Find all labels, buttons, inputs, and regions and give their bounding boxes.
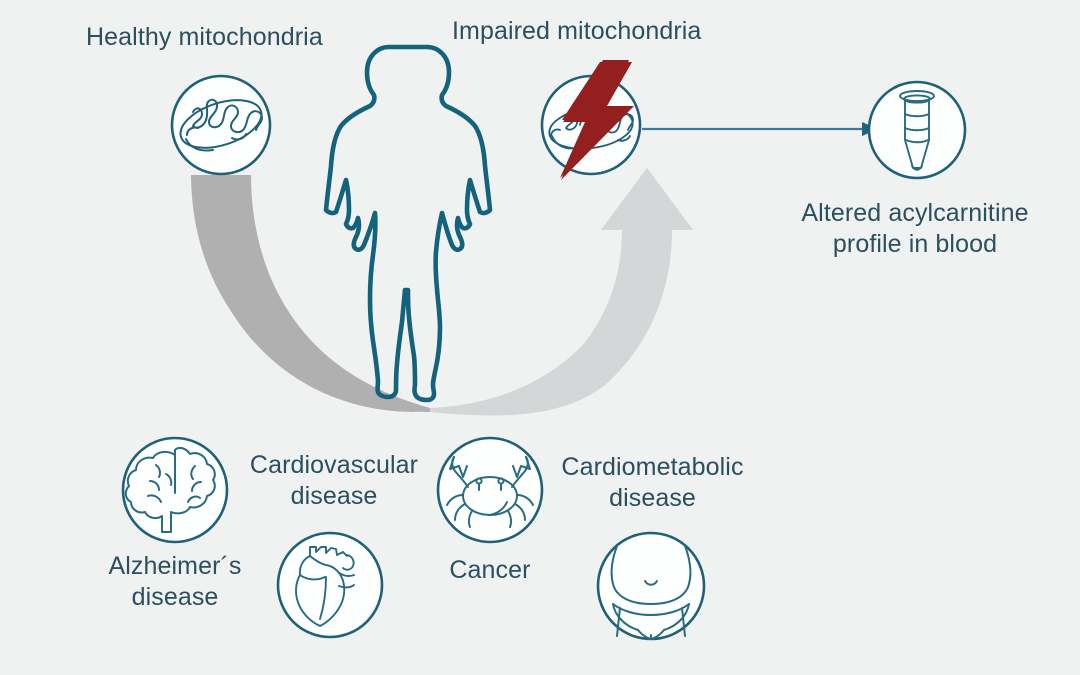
impaired-mitochondria-node[interactable] [542,60,640,180]
healthy-mitochondria-label: Healthy mitochondria [86,22,366,53]
alzheimer-node[interactable] [123,438,227,542]
blood-tube-label: Altered acylcarnitine profile in blood [770,198,1060,260]
human-body-outline-icon [326,47,490,400]
cardiometabolic-node[interactable] [598,533,704,639]
curved-arrows-group [191,168,693,415]
impaired-to-blood-arrow-icon [642,122,878,136]
impaired-mitochondria-label: Impaired mitochondria [452,16,752,47]
alzheimer-label: Alzheimer´s disease [80,551,270,613]
diagram-canvas: Healthy mitochondria Impaired mitochondr… [0,0,1080,675]
cardiovascular-label: Cardiovascular disease [235,450,433,512]
cancer-node[interactable] [438,438,542,542]
cancer-label: Cancer [420,555,560,586]
blood-tube-node[interactable] [869,82,965,178]
cardiometabolic-label: Cardiometabolic disease [540,452,765,514]
cardiovascular-node[interactable] [278,533,382,637]
cancer-circle[interactable] [438,438,542,542]
diseases-up-arrow-body-icon [430,168,693,414]
healthy-mitochondria-node[interactable] [172,76,270,174]
